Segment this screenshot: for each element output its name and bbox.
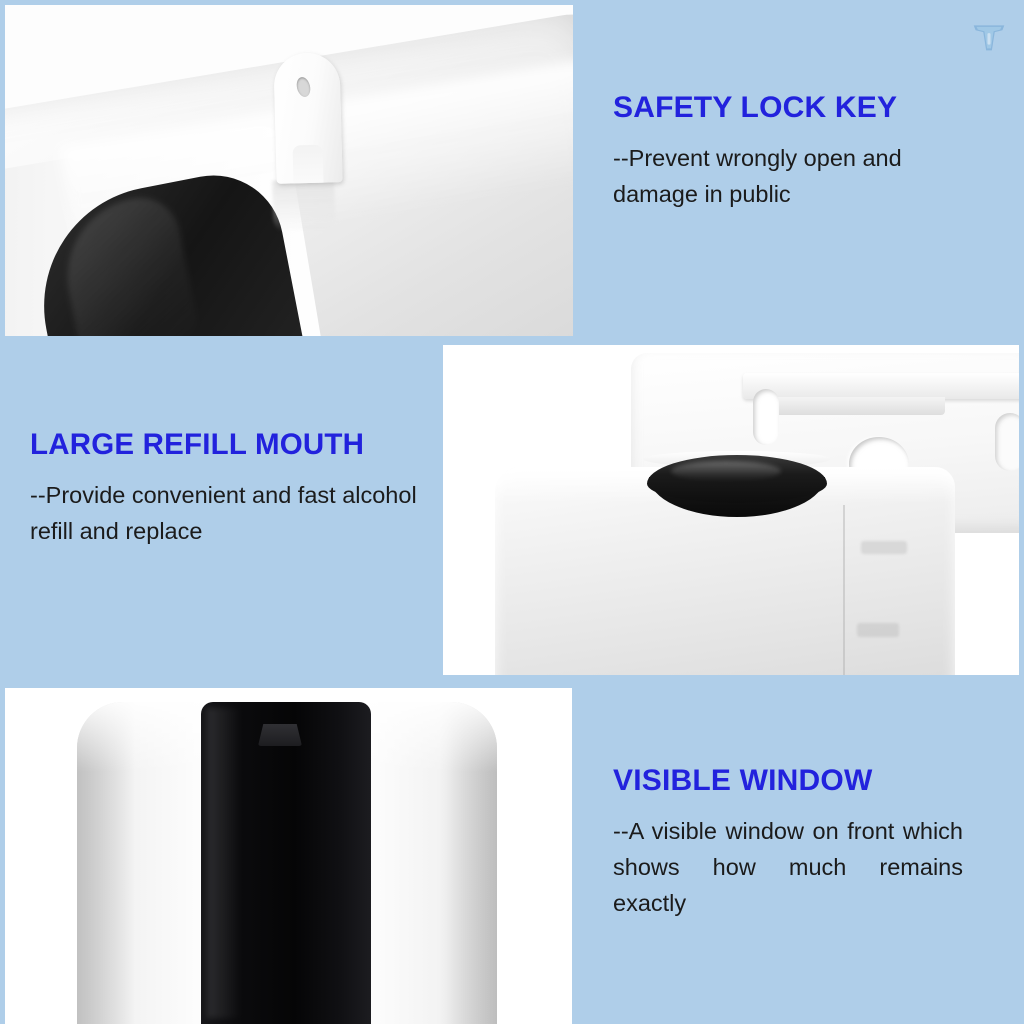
bottle-embossed-text-lower — [857, 623, 899, 637]
feature-description: --Prevent wrongly open and damage in pub… — [613, 140, 985, 212]
feature-description: --Provide convenient and fast alcohol re… — [30, 477, 442, 549]
large-refill-mouth-photo — [443, 345, 1019, 675]
mounting-keyhole-right — [995, 413, 1019, 471]
feature-title: SAFETY LOCK KEY — [613, 92, 985, 124]
product-photo-scene — [5, 5, 573, 336]
bottle-embossed-text-upper — [861, 541, 907, 554]
backplate-rail — [743, 373, 1019, 399]
product-photo-scene — [443, 345, 1019, 675]
feature-title: VISIBLE WINDOW — [613, 765, 963, 797]
key-reflection — [272, 179, 335, 233]
infographic-page: SAFETY LOCK KEY --Prevent wrongly open a… — [0, 0, 1024, 1024]
feature-title: LARGE REFILL MOUTH — [30, 430, 442, 461]
key-base-notch — [293, 145, 324, 184]
refill-cap-highlight — [671, 461, 781, 481]
feature-text-visible-window: VISIBLE WINDOW --A visible window on fro… — [613, 765, 963, 957]
feature-text-safety-lock-key: SAFETY LOCK KEY --Prevent wrongly open a… — [613, 92, 985, 212]
funnel-v-logo-icon — [966, 12, 1012, 58]
product-photo-scene — [5, 688, 572, 1024]
safety-lock-key-photo — [5, 5, 573, 336]
visible-window-photo — [5, 688, 572, 1024]
feature-text-large-refill-mouth: LARGE REFILL MOUTH --Provide convenient … — [30, 430, 442, 549]
mounting-keyhole-left — [753, 389, 779, 445]
window-top-notch — [258, 724, 302, 746]
bottle-side-ridge — [843, 505, 845, 675]
window-highlight — [207, 708, 243, 1018]
feature-description: --A visible window on front which shows … — [613, 813, 963, 958]
backplate-ledge — [755, 397, 945, 415]
